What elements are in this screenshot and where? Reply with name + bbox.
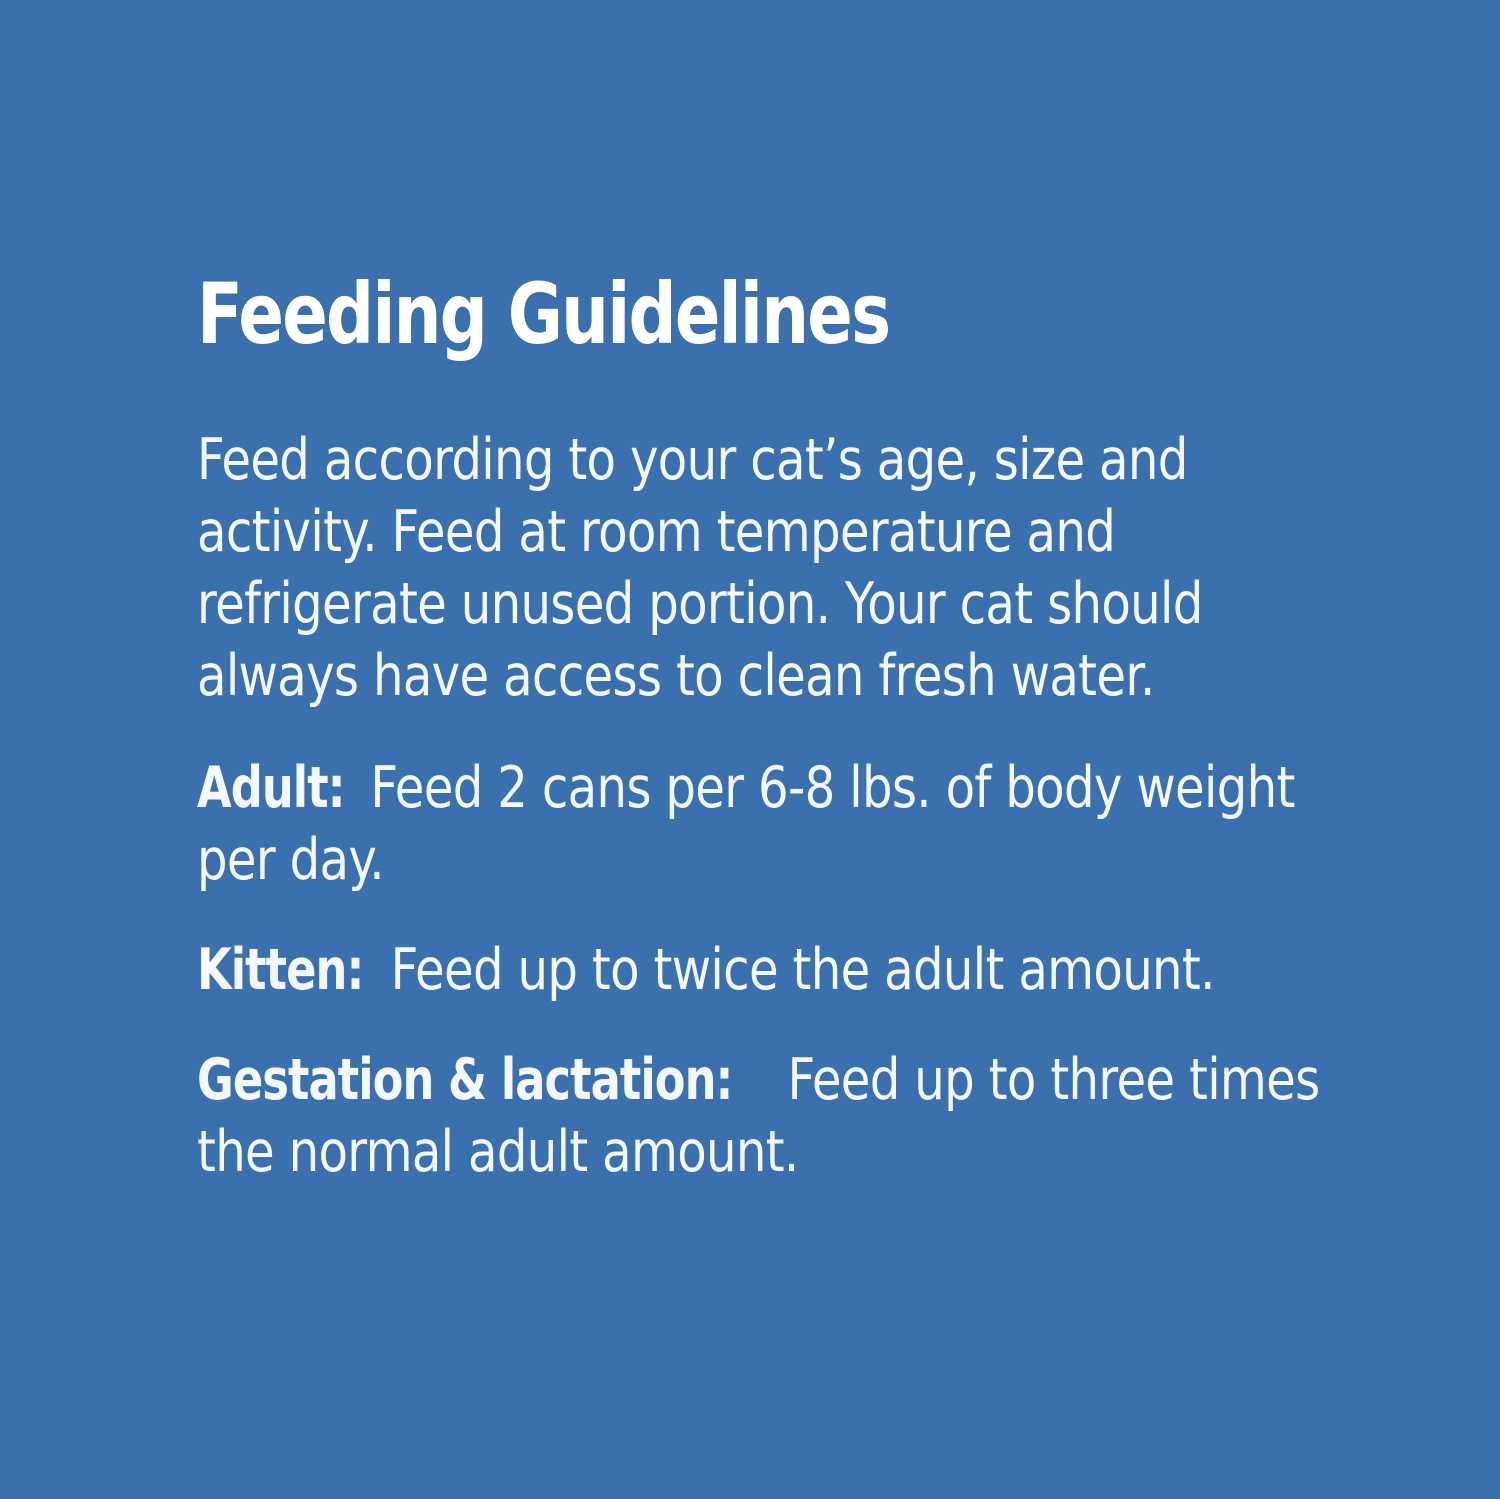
guideline-gestation-lactation: Gestation & lactation: Feed up to three …: [197, 1044, 1332, 1188]
guideline-kitten-text: Feed up to twice the adult amount.: [391, 937, 1215, 1003]
guideline-adult: Adult: Feed 2 cans per 6-8 lbs. of body …: [197, 752, 1332, 896]
content-column: Feeding Guidelines Feed according to you…: [197, 272, 1332, 1188]
guideline-kitten: Kitten: Feed up to twice the adult amoun…: [197, 934, 1332, 1006]
guideline-adult-label: Adult:: [197, 755, 356, 821]
guideline-gestation-lactation-label: Gestation & lactation:: [197, 1047, 773, 1113]
guideline-adult-text: Feed 2 cans per 6-8 lbs. of body weight …: [197, 755, 1295, 893]
intro-paragraph: Feed according to your cat’s age, size a…: [197, 424, 1332, 712]
page-title: Feeding Guidelines: [197, 272, 1332, 356]
feeding-guidelines-panel: Feeding Guidelines Feed according to you…: [0, 0, 1500, 1499]
guideline-kitten-label: Kitten:: [197, 937, 376, 1003]
